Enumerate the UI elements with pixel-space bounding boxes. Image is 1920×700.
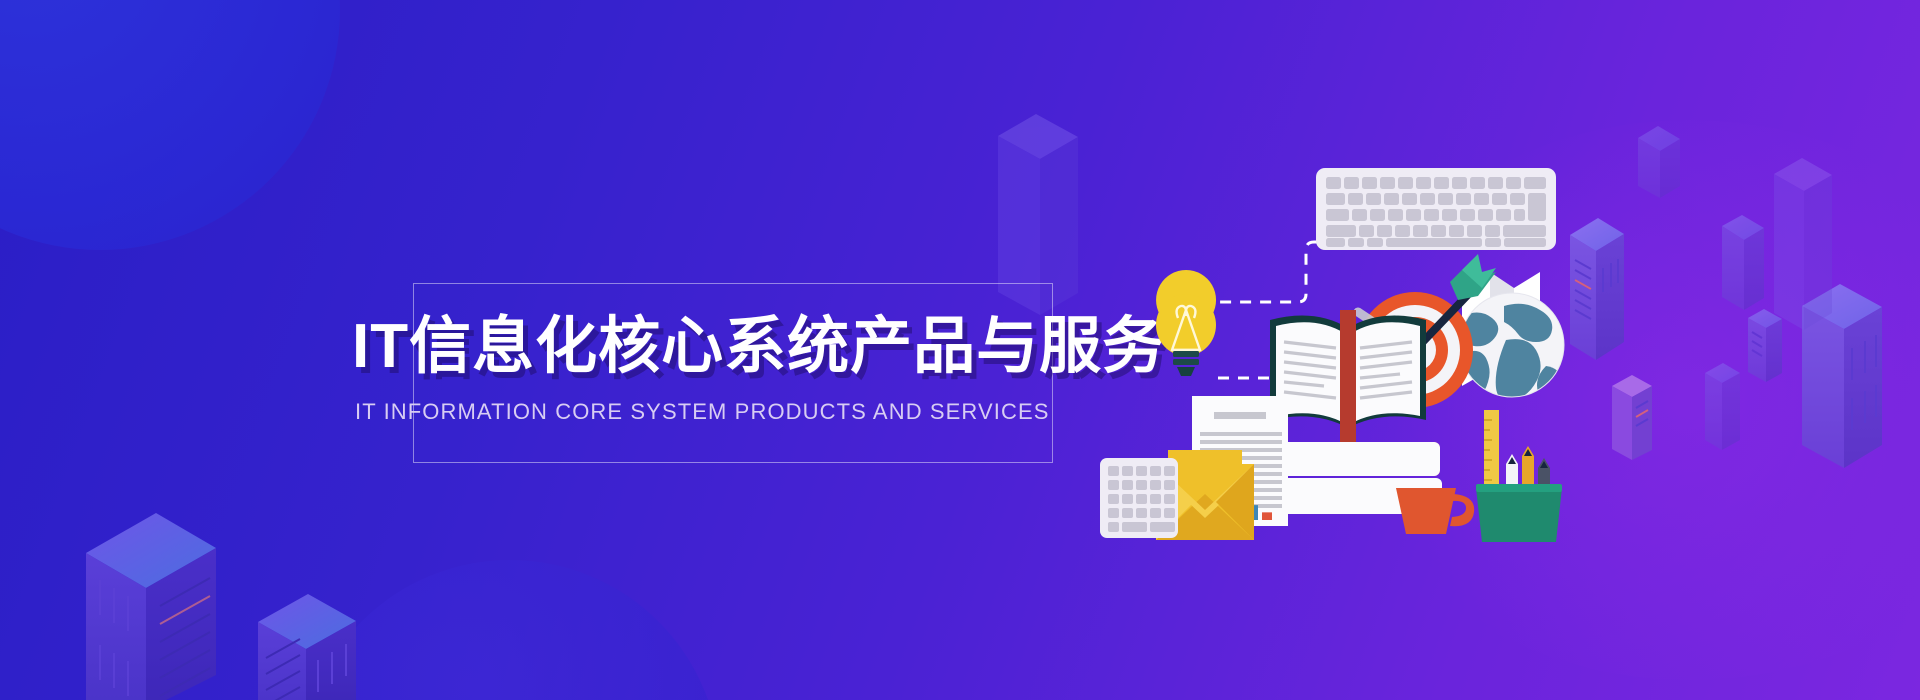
bar-5 (1262, 512, 1272, 520)
keyboard-icon (1316, 168, 1556, 250)
open-book-icon (1270, 310, 1426, 456)
illustration-group (1110, 120, 1580, 590)
building-cluster-right (1540, 120, 1920, 580)
pencil-holder-icon (1476, 410, 1562, 542)
building-cluster-left (70, 420, 400, 700)
background-circle-top-left (0, 0, 340, 250)
banner: IT信息化核心系统产品与服务 IT INFORMATION CORE SYSTE… (0, 0, 1920, 700)
lightbulb-icon (1156, 270, 1216, 376)
coffee-cup-icon (1396, 488, 1474, 534)
building-far-right-top (1760, 150, 1850, 350)
page-title: IT信息化核心系统产品与服务 (352, 316, 1112, 378)
small-keyboard-icon (1100, 458, 1178, 538)
page-subtitle: IT INFORMATION CORE SYSTEM PRODUCTS AND … (355, 399, 1115, 425)
